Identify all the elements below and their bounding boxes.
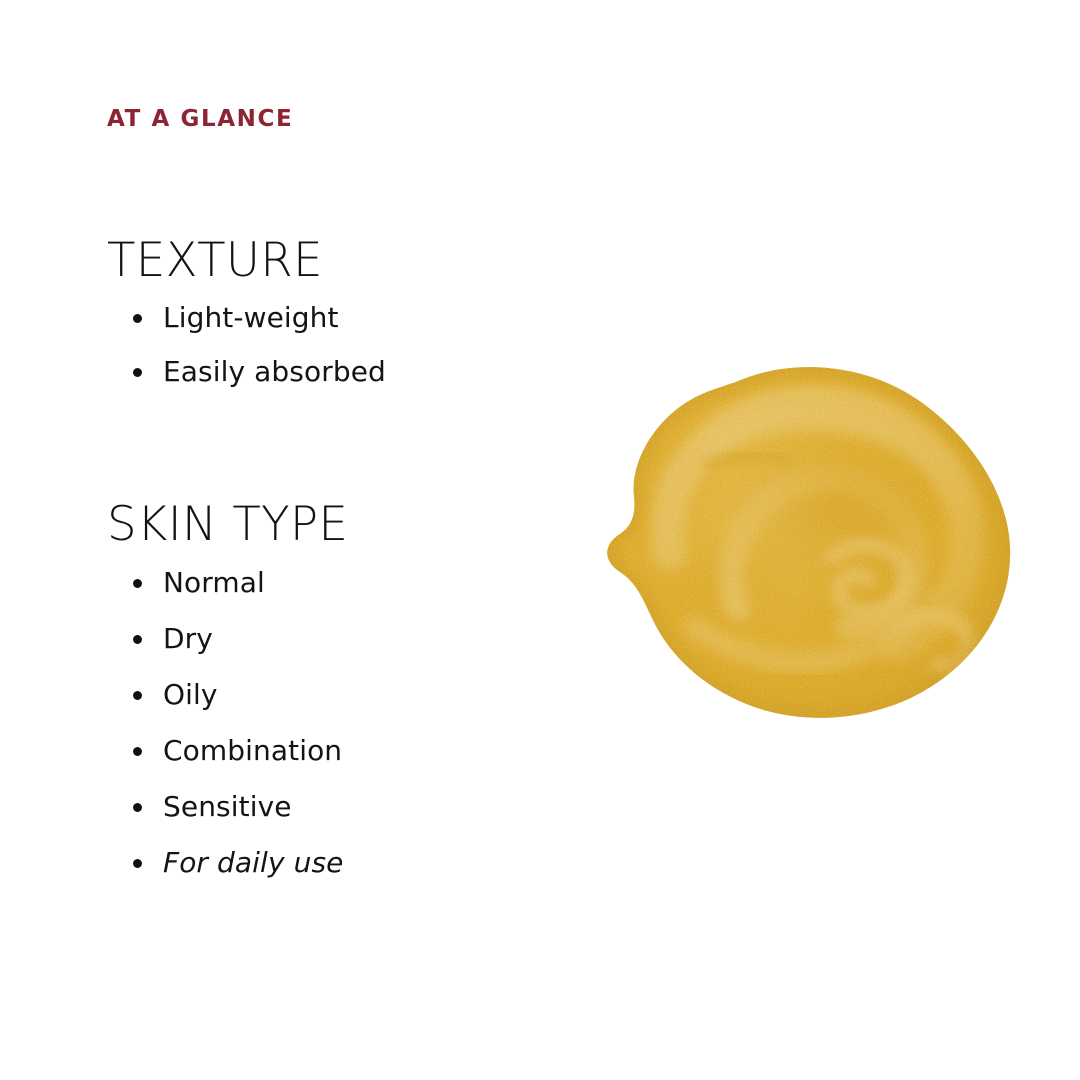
bullet-dot-icon [133, 691, 142, 700]
section-title-skin-type: SKIN TYPE [107, 500, 572, 549]
bullet-dot-icon [133, 579, 142, 588]
bullet-dot-icon [133, 859, 142, 868]
list-item-label: Sensitive [163, 793, 292, 821]
list-item-label: Easily absorbed [163, 358, 386, 386]
section-title-texture: TEXTURE [107, 236, 572, 285]
bullet-dot-icon [133, 635, 142, 644]
section-texture: TEXTURE Light-weight Easily absorbed [107, 236, 577, 399]
bullet-dot-icon [133, 803, 142, 812]
list-item-label: Combination [163, 737, 342, 765]
list-item: Oily [107, 667, 577, 723]
bullet-list-texture: Light-weight Easily absorbed [107, 291, 577, 399]
swatch-glitter-shadows [598, 358, 1018, 728]
list-item: Normal [107, 555, 577, 611]
list-item: Dry [107, 611, 577, 667]
list-item-label: Oily [163, 681, 218, 709]
list-item: Light-weight [107, 291, 577, 345]
list-item: Sensitive [107, 779, 577, 835]
page-canvas: AT A GLANCE TEXTURE Light-weight Easily … [0, 0, 1080, 1080]
list-item-label: Dry [163, 625, 213, 653]
list-item-label: For daily use [163, 849, 343, 877]
section-skin-type: SKIN TYPE Normal Dry Oily Combination [107, 500, 577, 891]
bullet-dot-icon [133, 314, 142, 323]
list-item-label: Normal [163, 569, 265, 597]
list-item: Combination [107, 723, 577, 779]
gold-serum-swatch-image [598, 358, 1018, 728]
list-item-label: Light-weight [163, 304, 339, 332]
list-item: For daily use [107, 835, 577, 891]
bullet-list-skin-type: Normal Dry Oily Combination Sensitive [107, 555, 577, 891]
eyebrow-heading: AT A GLANCE [107, 108, 293, 131]
list-item: Easily absorbed [107, 345, 577, 399]
bullet-dot-icon [133, 368, 142, 377]
bullet-dot-icon [133, 747, 142, 756]
